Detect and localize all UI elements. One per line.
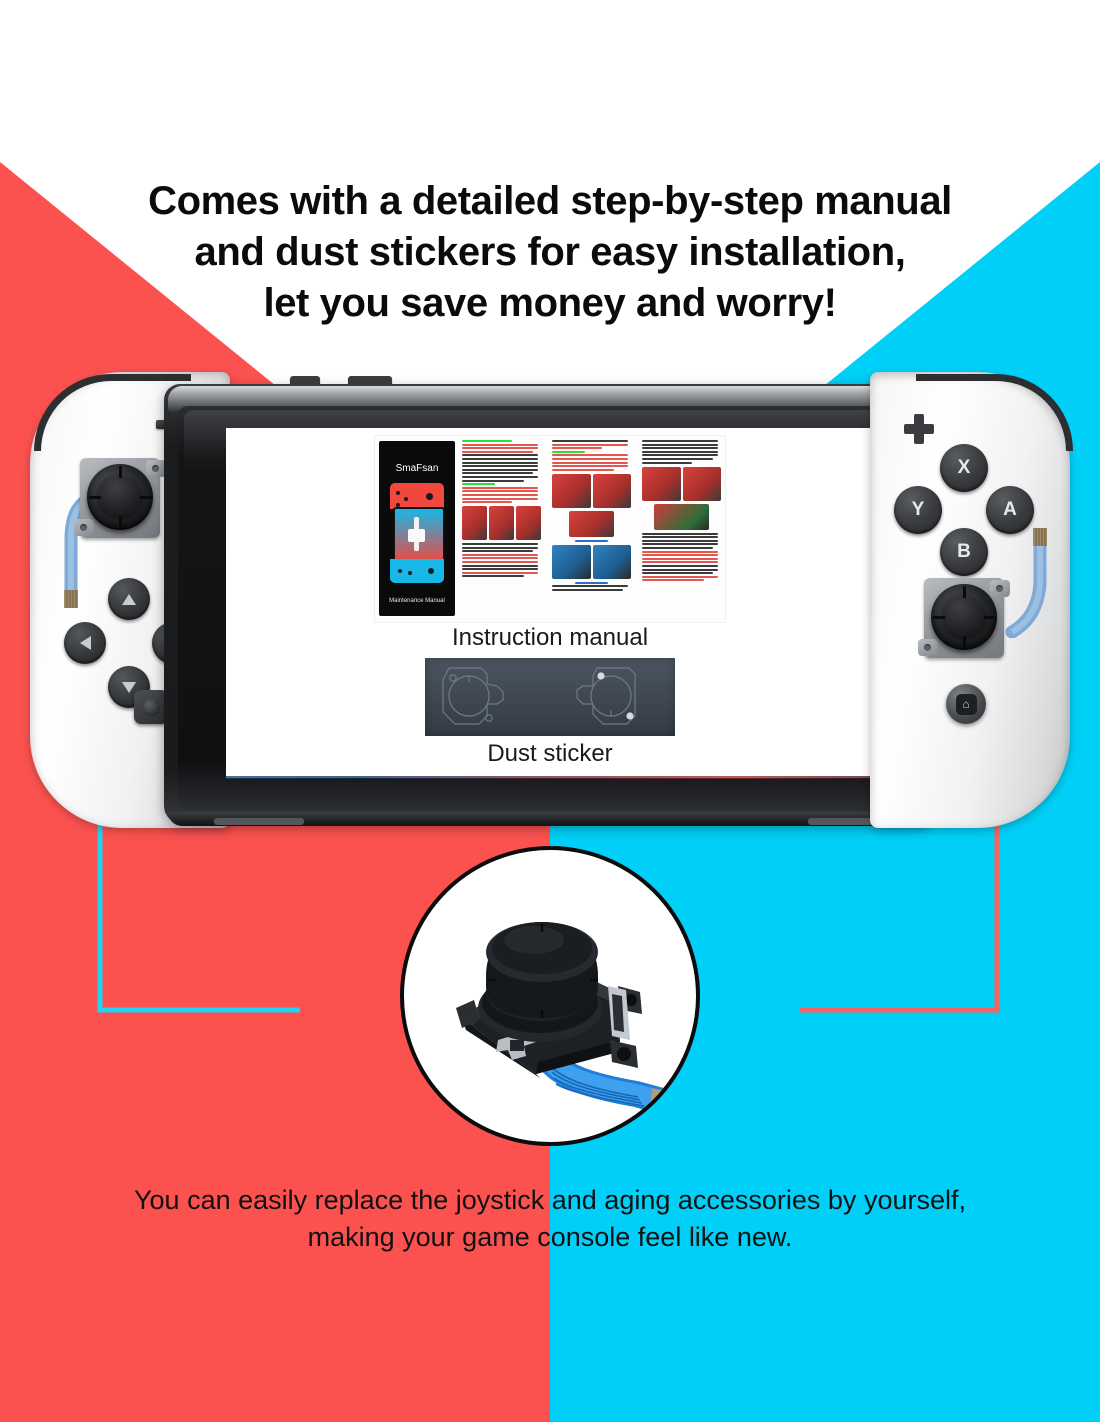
left-stick-notch-right bbox=[140, 496, 152, 499]
manual-brand: SmaFsan bbox=[379, 463, 455, 474]
joystick-module-photo bbox=[440, 890, 670, 1120]
manual-photo-row-2 bbox=[552, 474, 631, 508]
manual-column-1 bbox=[458, 436, 545, 622]
switch-console: SmaFsan bbox=[18, 372, 1082, 834]
left-stick-ear-top-right bbox=[146, 460, 166, 477]
button-b[interactable]: B bbox=[940, 528, 988, 576]
manual-device-dot-1 bbox=[396, 491, 400, 495]
right-analog-stick-module[interactable] bbox=[918, 572, 1010, 664]
manual-image-row: SmaFsan bbox=[226, 436, 874, 622]
manual-photo-row-6 bbox=[642, 504, 721, 530]
manual-device-dot-7 bbox=[428, 568, 434, 574]
plus-icon-vertical bbox=[914, 414, 924, 444]
manual-photo-row-4 bbox=[552, 545, 631, 579]
left-analog-stick-module[interactable] bbox=[74, 452, 166, 544]
manual-photo-row-5 bbox=[642, 467, 721, 501]
right-stick-ear-top-right bbox=[990, 580, 1010, 597]
left-stick-ear-bottom-left bbox=[74, 519, 94, 536]
right-stick-notch-top bbox=[963, 586, 966, 598]
manual-device-chip-icon bbox=[408, 529, 425, 542]
button-a[interactable]: A bbox=[986, 486, 1034, 534]
manual-device-dot-5 bbox=[398, 569, 402, 573]
product-marketing-image: Comes with a detailed step-by-step manua… bbox=[0, 0, 1100, 1422]
headline-line-1: Comes with a detailed step-by-step manua… bbox=[0, 176, 1100, 227]
right-joycon: X Y A B bbox=[870, 372, 1070, 828]
screen-bottom-glow bbox=[226, 776, 874, 779]
manual-heading-3 bbox=[552, 451, 585, 453]
dpad-left-icon bbox=[80, 636, 91, 650]
tablet-body: SmaFsan bbox=[164, 384, 936, 824]
dust-sticker-image bbox=[425, 658, 675, 736]
right-stick-screw-hole-tr bbox=[996, 585, 1003, 592]
dpad-up-button[interactable] bbox=[108, 578, 150, 620]
manual-device-dot-4 bbox=[426, 493, 433, 500]
instruction-manual-image: SmaFsan bbox=[375, 436, 725, 622]
dpad-left-button[interactable] bbox=[64, 622, 106, 664]
capture-button[interactable] bbox=[134, 690, 168, 724]
bottom-caption: You can easily replace the joystick and … bbox=[0, 1182, 1100, 1256]
button-x[interactable]: X bbox=[940, 444, 988, 492]
joystick-closeup-circle bbox=[400, 846, 700, 1146]
caption-line-1: You can easily replace the joystick and … bbox=[0, 1182, 1100, 1219]
headline-line-3: let you save money and worry! bbox=[0, 278, 1100, 329]
manual-subtitle: Maintenance Manual bbox=[379, 598, 455, 604]
manual-device-dot-2 bbox=[404, 497, 408, 501]
right-stick-notch-left bbox=[933, 616, 945, 619]
capture-icon bbox=[143, 699, 160, 716]
manual-device-dot-6 bbox=[408, 571, 412, 575]
manual-cover: SmaFsan bbox=[379, 441, 455, 616]
screen-content: SmaFsan bbox=[226, 428, 874, 778]
instruction-manual-label: Instruction manual bbox=[226, 624, 874, 652]
right-stick-notch-bottom bbox=[963, 636, 966, 648]
manual-photo-row-1 bbox=[462, 506, 541, 540]
home-icon: ⌂ bbox=[962, 698, 969, 710]
joystick-cap bbox=[486, 922, 598, 1018]
headline-line-2: and dust stickers for easy installation, bbox=[0, 227, 1100, 278]
caption-line-2: making your game console feel like new. bbox=[0, 1219, 1100, 1256]
headline: Comes with a detailed step-by-step manua… bbox=[0, 176, 1100, 329]
home-button[interactable]: ⌂ bbox=[946, 684, 986, 724]
tablet-foot-left bbox=[214, 818, 304, 825]
left-stick-screw-hole-bl bbox=[80, 524, 87, 531]
right-stick-screw-hole-bl bbox=[924, 644, 931, 651]
manual-column-3 bbox=[638, 436, 725, 622]
console-screen: SmaFsan bbox=[226, 428, 874, 778]
left-stick-notch-bottom bbox=[119, 516, 122, 528]
left-stick-screw-hole-tr bbox=[152, 465, 159, 472]
right-stick-ear-bottom-left bbox=[918, 639, 938, 656]
joystick-ribbon-cable bbox=[548, 1058, 670, 1118]
manual-photo-row-3 bbox=[552, 511, 631, 537]
dust-sticker-label: Dust sticker bbox=[226, 740, 874, 768]
dpad-down-icon bbox=[122, 682, 136, 693]
home-button-inner: ⌂ bbox=[956, 694, 977, 715]
left-stick-notch-left bbox=[89, 496, 101, 499]
manual-cover-device bbox=[390, 483, 444, 583]
manual-heading-1 bbox=[462, 440, 512, 442]
plus-button[interactable] bbox=[904, 414, 934, 444]
manual-heading-2 bbox=[462, 483, 495, 485]
joystick-closeup-inset bbox=[400, 846, 700, 1146]
manual-column-2 bbox=[548, 436, 635, 622]
button-y[interactable]: Y bbox=[894, 486, 942, 534]
dust-sticker-outlines bbox=[425, 658, 675, 736]
right-stick-notch-right bbox=[984, 616, 996, 619]
left-stick-notch-top bbox=[119, 466, 122, 478]
dust-sticker-row bbox=[226, 658, 874, 736]
dpad-up-icon bbox=[122, 594, 136, 605]
